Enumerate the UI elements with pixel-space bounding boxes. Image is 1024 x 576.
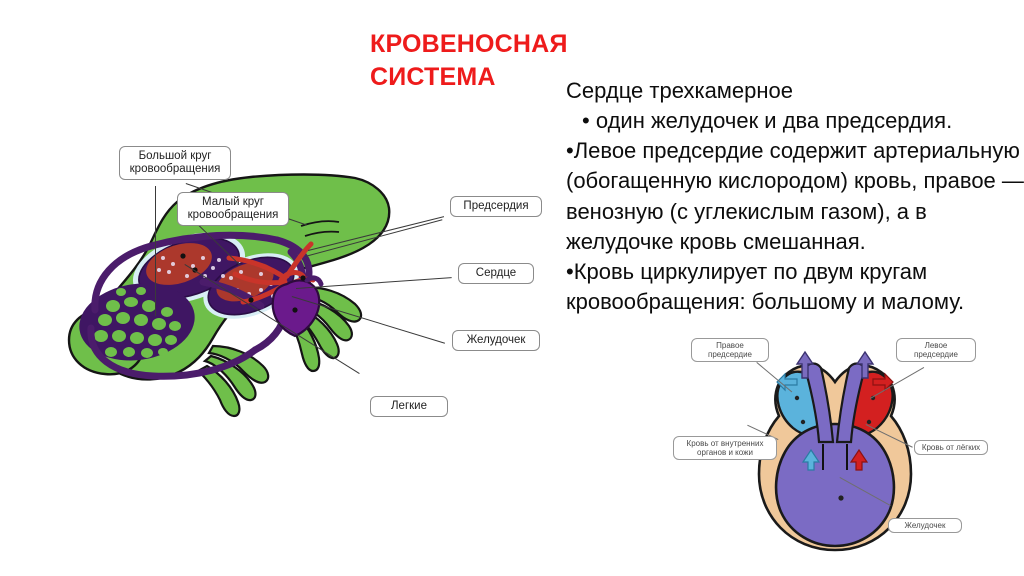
body-bullet-2: •Левое предсердие содержит артериальную …	[566, 136, 1024, 257]
label-ventricle-heart-text: Желудочек	[905, 521, 946, 530]
arrow-aortic-up	[797, 352, 873, 378]
label-left-atrium[interactable]: Левое предсердие	[896, 338, 976, 362]
frog-hind-foot	[198, 346, 268, 416]
body-text-block: Сердце трехкамерное • один желудочек и д…	[566, 76, 1024, 317]
label-pulmonary-circulation[interactable]: Малый круг кровообращения	[177, 192, 289, 226]
label-systemic-text: Большой круг кровообращения	[130, 150, 221, 175]
label-heart-text: Сердце	[476, 267, 516, 279]
body-bullet-1: • один желудочек и два предсердия.	[566, 106, 1024, 136]
label-atria[interactable]: Предсердия	[450, 196, 542, 217]
body-bullet-3: •Кровь циркулирует по двум кругам кровоо…	[566, 257, 1024, 317]
label-heart[interactable]: Сердце	[458, 263, 534, 284]
label-blood-from-lungs[interactable]: Кровь от лёгких	[914, 440, 988, 455]
leader-systemic-drop	[155, 186, 156, 316]
label-ventricle-frog-text: Желудочек	[467, 334, 526, 346]
label-blood-from-lungs-text: Кровь от лёгких	[922, 443, 980, 452]
label-ventricle-heart[interactable]: Желудочек	[888, 518, 962, 533]
slide-canvas: КРОВЕНОСНАЯ СИСТЕМА Сердце трехкамерное …	[0, 0, 1024, 576]
label-systemic-circulation[interactable]: Большой круг кровообращения	[119, 146, 231, 180]
label-lungs[interactable]: Легкие	[370, 396, 448, 417]
title-line-1: КРОВЕНОСНАЯ	[370, 28, 600, 61]
label-blood-from-organs-text: Кровь от внутренних органов и кожи	[687, 439, 764, 457]
label-blood-from-organs[interactable]: Кровь от внутренних органов и кожи	[673, 436, 777, 460]
body-line-heading: Сердце трехкамерное	[566, 76, 1024, 106]
label-left-atrium-text: Левое предсердие	[914, 341, 958, 359]
label-ventricle-frog[interactable]: Желудочек	[452, 330, 540, 351]
label-lungs-text: Легкие	[391, 400, 427, 412]
ventricle-shape	[776, 424, 894, 546]
label-pulmonary-text: Малый круг кровообращения	[188, 196, 279, 221]
label-right-atrium-text: Правое предсердие	[708, 341, 752, 359]
label-atria-text: Предсердия	[463, 200, 528, 212]
label-right-atrium[interactable]: Правое предсердие	[691, 338, 769, 362]
